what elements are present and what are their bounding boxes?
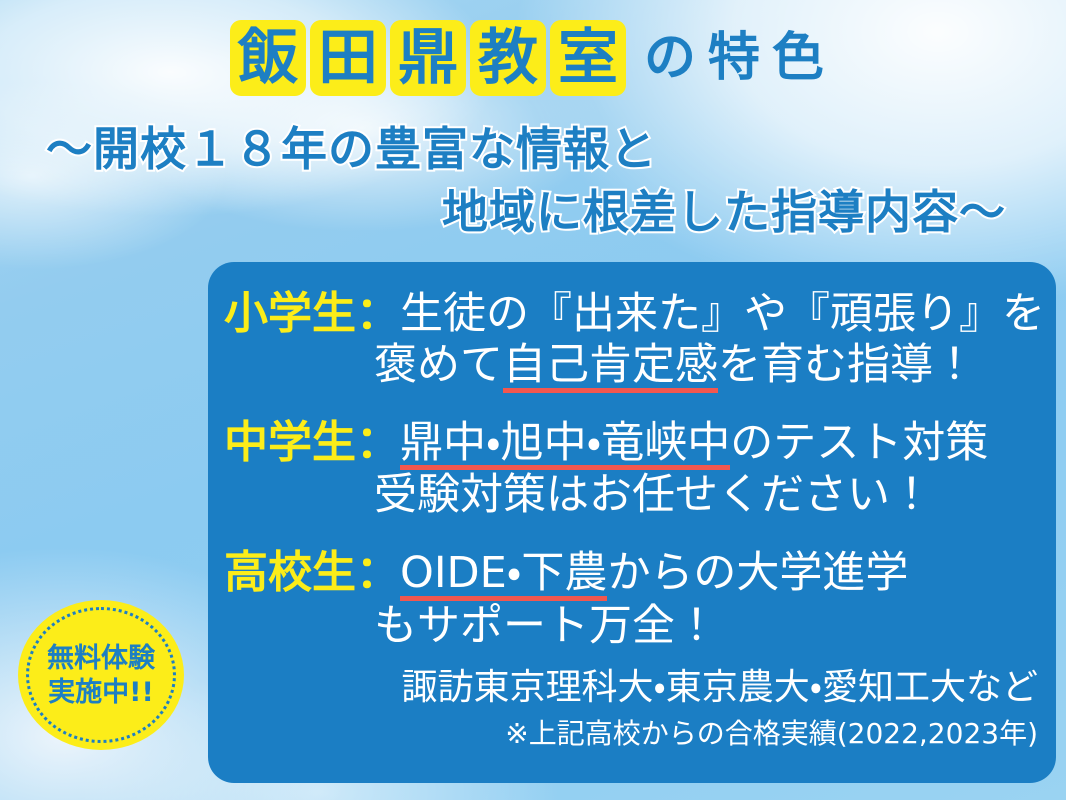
subtitle: 〜開校１８年の豊富な情報と 地域に根差した指導内容〜 xyxy=(46,118,1036,243)
badge-line-1: 無料体験 xyxy=(47,645,155,672)
section-elementary-line-1: 小学生 ： 生徒の『出来た』や『頑張り』を xyxy=(208,288,1056,340)
results-disclaimer: ※上記高校からの合格実績(2022,2023年) xyxy=(208,712,1056,752)
section-elementary-text-2-suffix: を育む指導！ xyxy=(718,340,976,391)
section-junior-high-line-2: 受験対策はお任せください！ xyxy=(208,470,1056,521)
section-junior-high-underlined: 鼎中・旭中・竜峡中 xyxy=(400,418,730,471)
section-junior-high-label: 中学生 xyxy=(224,417,356,469)
section-senior-high-text-1-suffix: からの大学進学 xyxy=(607,548,908,599)
section-senior-high-line-2: もサポート万全！ xyxy=(208,601,1056,652)
features-panel: 小学生 ： 生徒の『出来た』や『頑張り』を 褒めて 自己肯定感 を育む指導！ 中… xyxy=(208,262,1056,783)
section-elementary-text-2-prefix: 褒めて xyxy=(374,340,503,391)
badge-line-2: 実施中!! xyxy=(48,679,154,706)
title-highlight-char: 田 xyxy=(310,20,386,96)
section-junior-high-text-1-suffix: のテスト対策 xyxy=(730,418,988,469)
section-junior-high: 中学生 ： 鼎中・旭中・竜峡中 のテスト対策 受験対策はお任せください！ xyxy=(208,417,1056,521)
section-elementary-label: 小学生 xyxy=(224,288,356,340)
section-elementary-line-2: 褒めて 自己肯定感 を育む指導！ xyxy=(208,340,1056,393)
section-senior-high-line-1: 高校生 ： OIDE・下農 からの大学進学 xyxy=(208,547,1056,601)
section-junior-high-line-1: 中学生 ： 鼎中・旭中・竜峡中 のテスト対策 xyxy=(208,417,1056,471)
page-title: 飯 田 鼎 教 室 の特色 xyxy=(0,20,1066,96)
subtitle-line-2: 地域に根差した指導内容〜 xyxy=(46,181,1036,244)
section-elementary: 小学生 ： 生徒の『出来た』や『頑張り』を 褒めて 自己肯定感 を育む指導！ xyxy=(208,288,1056,393)
section-elementary-underlined: 自己肯定感 xyxy=(503,340,718,393)
university-list: 諏訪東京理科大・東京農大・愛知工大など xyxy=(208,658,1056,710)
free-trial-badge[interactable]: 無料体験 実施中!! xyxy=(18,600,184,750)
title-highlight-char: 室 xyxy=(550,20,626,96)
section-junior-high-colon: ： xyxy=(356,417,400,469)
subtitle-line-1: 〜開校１８年の豊富な情報と xyxy=(46,118,1036,181)
badge-dotted-ring xyxy=(26,607,176,743)
section-senior-high: 高校生 ： OIDE・下農 からの大学進学 もサポート万全！ 諏訪東京理科大・東… xyxy=(208,547,1056,751)
section-senior-high-text-2: もサポート万全！ xyxy=(374,601,718,652)
title-highlight-char: 鼎 xyxy=(390,20,466,96)
section-elementary-colon: ： xyxy=(356,288,400,340)
title-highlight-char: 飯 xyxy=(230,20,306,96)
section-senior-high-underlined: OIDE・下農 xyxy=(400,548,607,601)
section-elementary-text-1: 生徒の『出来た』や『頑張り』を xyxy=(400,289,1045,340)
section-junior-high-text-2: 受験対策はお任せください！ xyxy=(374,470,933,521)
title-suffix: の特色 xyxy=(644,32,836,84)
poster-root: 飯 田 鼎 教 室 の特色 〜開校１８年の豊富な情報と 地域に根差した指導内容〜… xyxy=(0,0,1066,800)
section-senior-high-colon: ： xyxy=(356,547,400,599)
section-senior-high-label: 高校生 xyxy=(224,547,356,599)
title-highlight-char: 教 xyxy=(470,20,546,96)
